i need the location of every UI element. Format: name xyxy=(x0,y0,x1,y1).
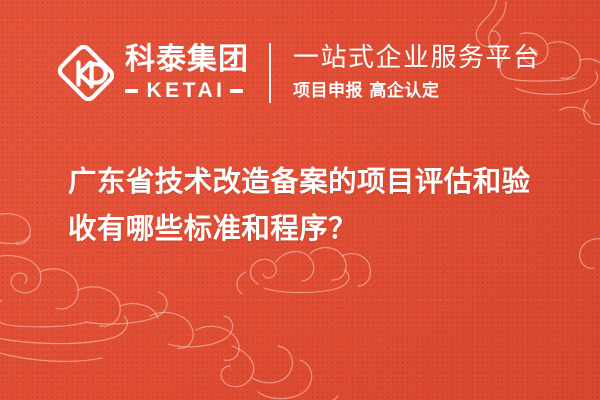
dash-right-icon xyxy=(230,89,243,93)
company-name-en-row: KETAI xyxy=(125,80,249,101)
vertical-divider xyxy=(269,43,271,103)
promo-banner: 科泰集团 KETAI 一站式企业服务平台 项目申报 高企认定 广东省技术改造备案… xyxy=(0,0,600,400)
cloud-right-edge-wisp xyxy=(580,239,600,269)
tagline-sub: 项目申报 高企认定 xyxy=(293,82,541,102)
logo-wordmark: 科泰集团 KETAI xyxy=(125,45,249,101)
cloud-left-lower-tail xyxy=(0,346,338,400)
company-name-en: KETAI xyxy=(143,80,225,101)
company-name-cn: 科泰集团 xyxy=(125,45,249,75)
tagline-block: 一站式企业服务平台 项目申报 高企认定 xyxy=(293,44,541,101)
cloud-left-middle xyxy=(0,256,239,361)
dash-left-icon xyxy=(125,89,138,93)
cloud-bottom-center xyxy=(237,248,370,294)
banner-header: 科泰集团 KETAI 一站式企业服务平台 项目申报 高企认定 xyxy=(58,40,541,106)
headline-text: 广东省技术改造备案的项目评估和验收有哪些标准和程序？ xyxy=(68,158,548,252)
ketai-diamond-k-logo-icon xyxy=(58,45,114,101)
tagline-main: 一站式企业服务平台 xyxy=(293,44,541,74)
cloud-left-edge-wisp xyxy=(0,214,30,245)
